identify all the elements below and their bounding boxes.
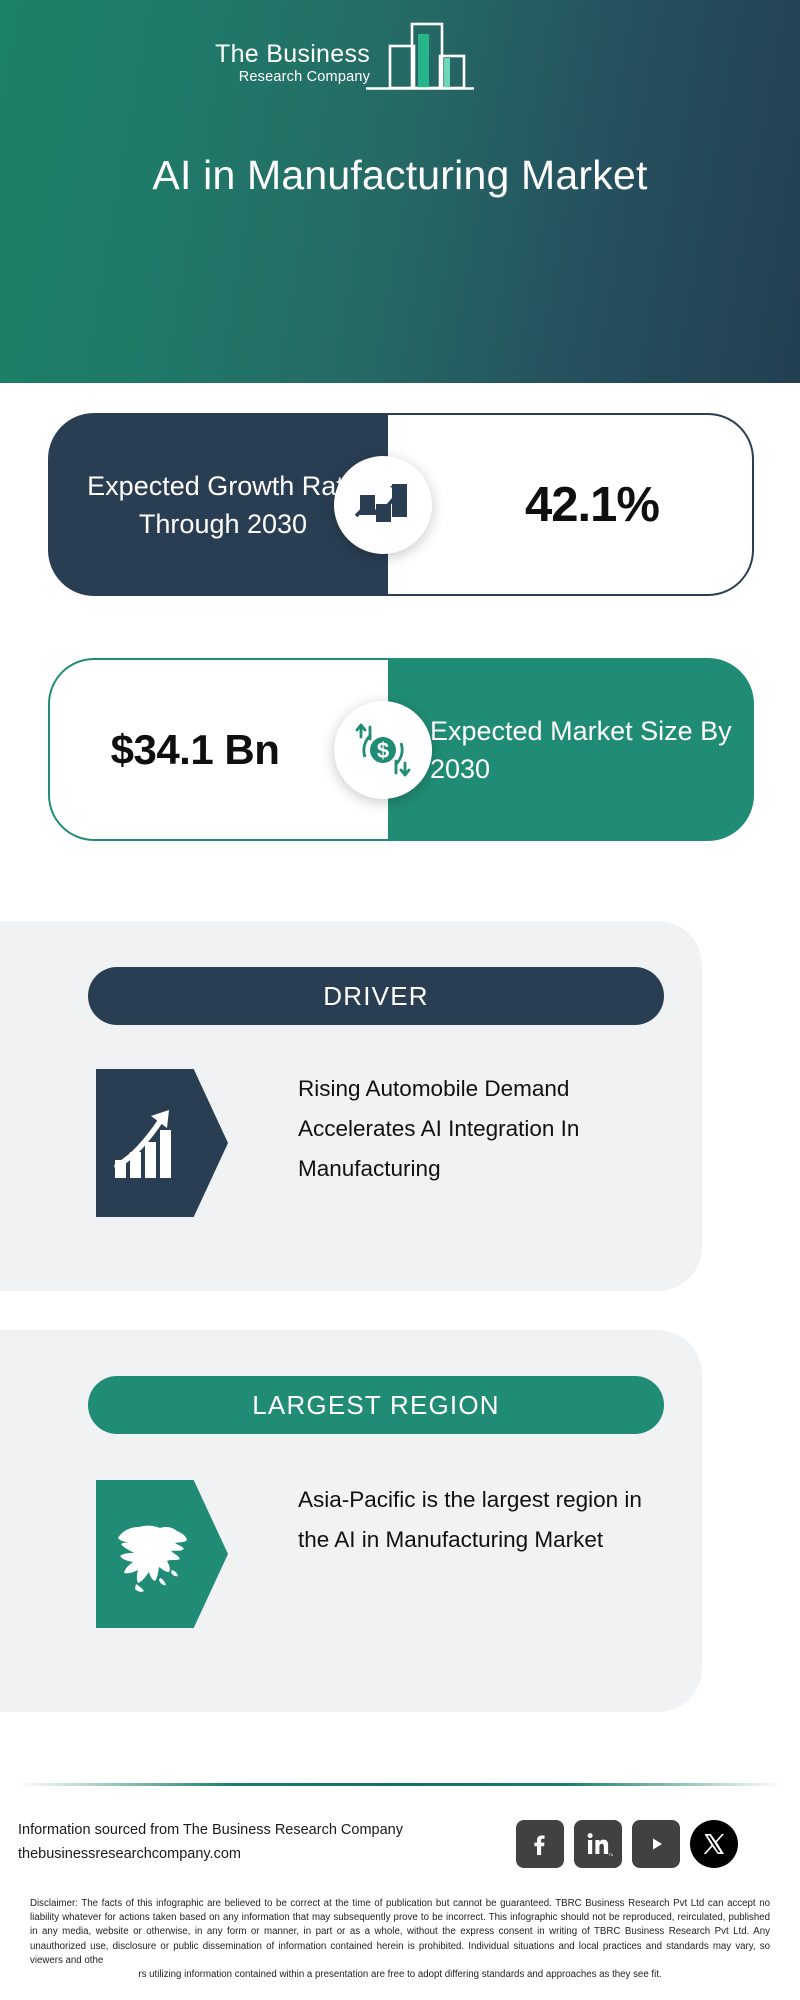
social-links: TM	[516, 1820, 738, 1868]
youtube-icon[interactable]	[632, 1820, 680, 1868]
section-largest-region-heading: LARGEST REGION	[88, 1376, 664, 1434]
disclaimer-last-line: rs utilizing information contained withi…	[30, 1968, 770, 1982]
footer-source-line1: Information sourced from The Business Re…	[18, 1818, 403, 1842]
svg-text:$: $	[377, 738, 389, 763]
logo-secondary-text: Research Company	[239, 68, 370, 86]
stat-card-market-size-label-panel: Expected Market Size By 2030	[388, 658, 754, 841]
footer-divider	[18, 1783, 782, 1786]
section-largest-region: LARGEST REGION Asia-Pacific is the large…	[0, 1330, 702, 1712]
footer-source: Information sourced from The Business Re…	[18, 1818, 403, 1866]
disclaimer-main: Disclaimer: The facts of this infographi…	[30, 1898, 770, 1966]
disclaimer-text: Disclaimer: The facts of this infographi…	[30, 1897, 770, 1982]
stat-card-growth-rate-value: 42.1%	[481, 477, 659, 533]
logo-text-block: The Business Research Company	[215, 41, 370, 94]
linkedin-icon[interactable]: TM	[574, 1820, 622, 1868]
stat-card-growth-rate-value-panel: 42.1%	[388, 413, 754, 596]
company-logo[interactable]: The Business Research Company	[215, 22, 474, 94]
facebook-icon[interactable]	[516, 1820, 564, 1868]
page-title: AI in Manufacturing Market	[0, 152, 800, 199]
bar-chart-logo-mark-icon	[366, 22, 474, 92]
svg-text:TM: TM	[609, 1852, 614, 1857]
section-largest-region-body: Asia-Pacific is the largest region in th…	[298, 1480, 672, 1560]
footer-source-website[interactable]: thebusinessresearchcompany.com	[18, 1842, 403, 1866]
section-driver-heading: DRIVER	[88, 967, 664, 1025]
logo-primary-text: The Business	[215, 41, 370, 68]
x-twitter-icon[interactable]	[690, 1820, 738, 1868]
dollar-refresh-icon: $	[334, 701, 432, 799]
header-banner: The Business Research Company AI in Manu…	[0, 0, 800, 383]
section-driver: DRIVER Rising Automobile Demand Accelera…	[0, 921, 702, 1291]
stat-card-growth-rate: Expected Growth Rate Through 2030 42.1%	[48, 413, 754, 596]
rising-bar-chart-icon	[96, 1069, 228, 1217]
asia-map-icon	[96, 1480, 228, 1628]
stat-card-market-size-label: Expected Market Size By 2030	[388, 712, 754, 788]
stat-card-market-size: $34.1 Bn Expected Market Size By 2030 $	[48, 658, 754, 841]
growth-chart-arrow-icon	[334, 456, 432, 554]
stat-card-market-size-value: $34.1 Bn	[111, 724, 328, 776]
section-driver-body: Rising Automobile Demand Accelerates AI …	[298, 1069, 672, 1189]
